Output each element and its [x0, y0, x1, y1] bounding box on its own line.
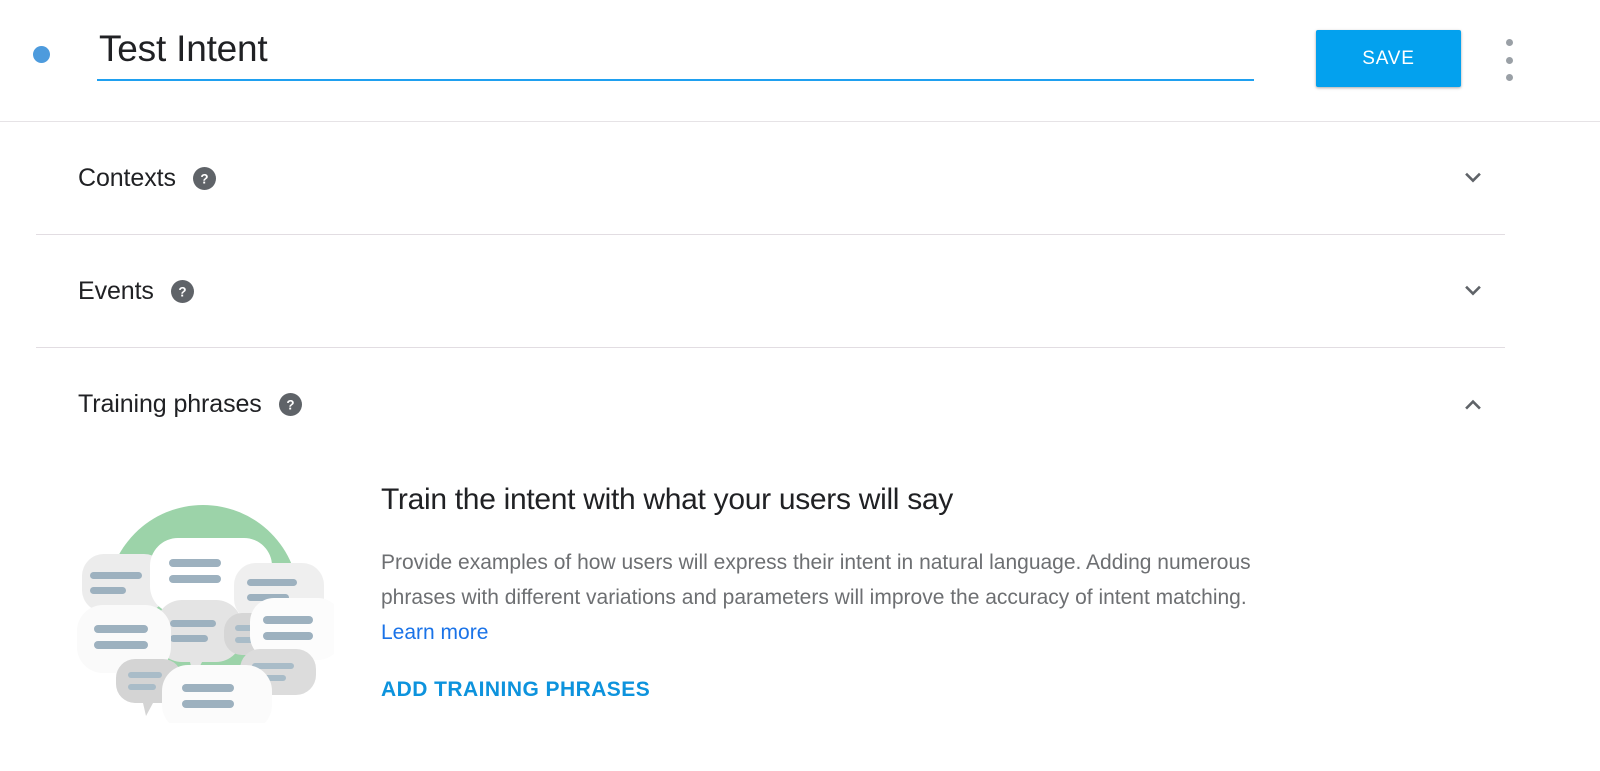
- add-training-phrases-button[interactable]: ADD TRAINING PHRASES: [381, 678, 650, 702]
- training-phrases-empty-state: Train the intent with what your users wi…: [0, 461, 1600, 723]
- kebab-dot: [1506, 57, 1513, 64]
- chevron-down-icon[interactable]: [1455, 160, 1491, 196]
- section-events-label: Events: [36, 277, 154, 306]
- training-phrases-description-text: Provide examples of how users will expre…: [381, 551, 1251, 609]
- help-icon[interactable]: ?: [171, 280, 194, 303]
- intent-sections: Contexts ? Events ? Trai: [0, 122, 1600, 723]
- help-icon[interactable]: ?: [193, 167, 216, 190]
- section-contexts-label: Contexts: [36, 164, 176, 193]
- svg-text:?: ?: [178, 284, 186, 299]
- intent-title-underline: [97, 79, 1254, 81]
- training-phrases-heading: Train the intent with what your users wi…: [381, 481, 1271, 519]
- save-button[interactable]: SAVE: [1316, 30, 1461, 87]
- section-training-phrases[interactable]: Training phrases ?: [36, 348, 1505, 461]
- training-phrases-description: Provide examples of how users will expre…: [381, 545, 1271, 650]
- learn-more-link[interactable]: Learn more: [381, 621, 488, 644]
- training-phrases-copy: Train the intent with what your users wi…: [334, 481, 1271, 723]
- kebab-dot: [1506, 74, 1513, 81]
- chevron-down-icon[interactable]: [1455, 273, 1491, 309]
- intent-header: SAVE: [0, 0, 1600, 122]
- intent-name-input[interactable]: [97, 26, 1254, 79]
- chevron-up-icon[interactable]: [1455, 387, 1491, 423]
- svg-text:?: ?: [200, 171, 208, 186]
- kebab-dot: [1506, 39, 1513, 46]
- intent-title-field[interactable]: [97, 26, 1254, 81]
- help-icon[interactable]: ?: [279, 393, 302, 416]
- intent-status-dot: [33, 46, 50, 63]
- section-training-phrases-label: Training phrases: [36, 390, 262, 419]
- section-contexts[interactable]: Contexts ?: [36, 122, 1505, 235]
- section-events[interactable]: Events ?: [36, 235, 1505, 348]
- more-options-icon[interactable]: [1500, 39, 1518, 81]
- svg-text:?: ?: [286, 397, 294, 412]
- speech-bubbles-illustration: [72, 483, 334, 723]
